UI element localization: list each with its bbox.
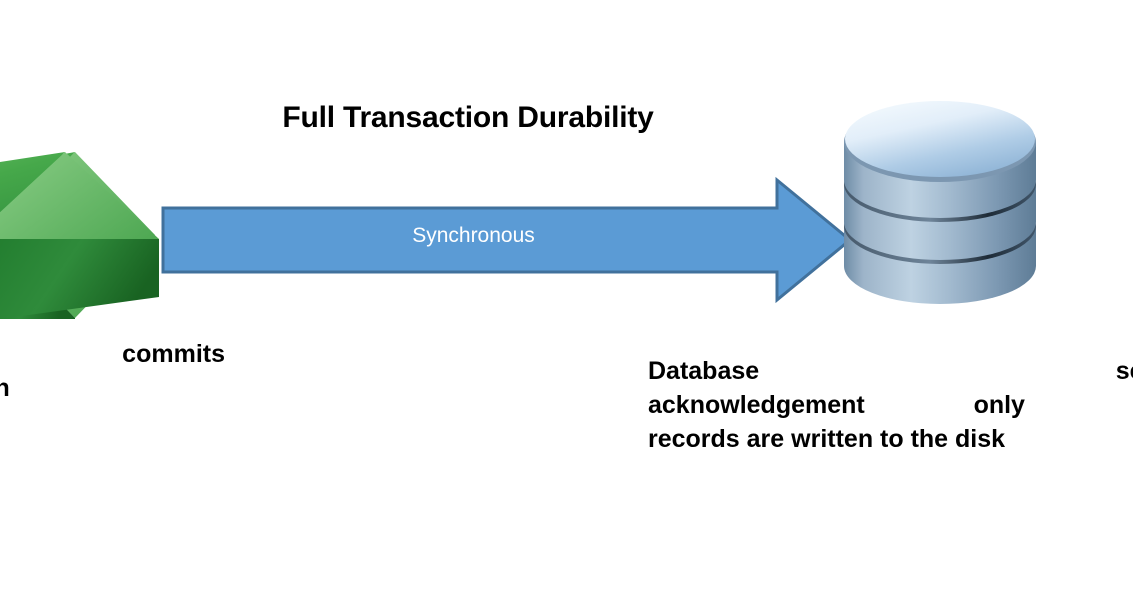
caption-right-line-2: acknowledgement only after [648,388,1133,422]
caption-left: tion commits plication [0,337,225,405]
caption-left-line-1: tion commits [0,337,225,371]
caption-right-line-1: Database sends [648,354,1133,388]
diagram-canvas: Full Transaction Durability [0,0,1133,595]
database-discs [844,101,1036,304]
caption-right: Database sends acknowledgement only afte… [648,354,1133,456]
synchronous-arrow: Synchronous [161,176,853,304]
application-box: APP N [0,147,159,319]
page-title: Full Transaction Durability [0,101,936,135]
database-cylinder-icon [841,98,1039,314]
caption-left-line-2: plication [0,371,225,405]
arrow-label: Synchronous [161,224,786,248]
app-box-solid [0,152,159,319]
caption-right-line-3: records are written to the disk [648,422,1133,456]
disc-top-surface [845,101,1035,177]
